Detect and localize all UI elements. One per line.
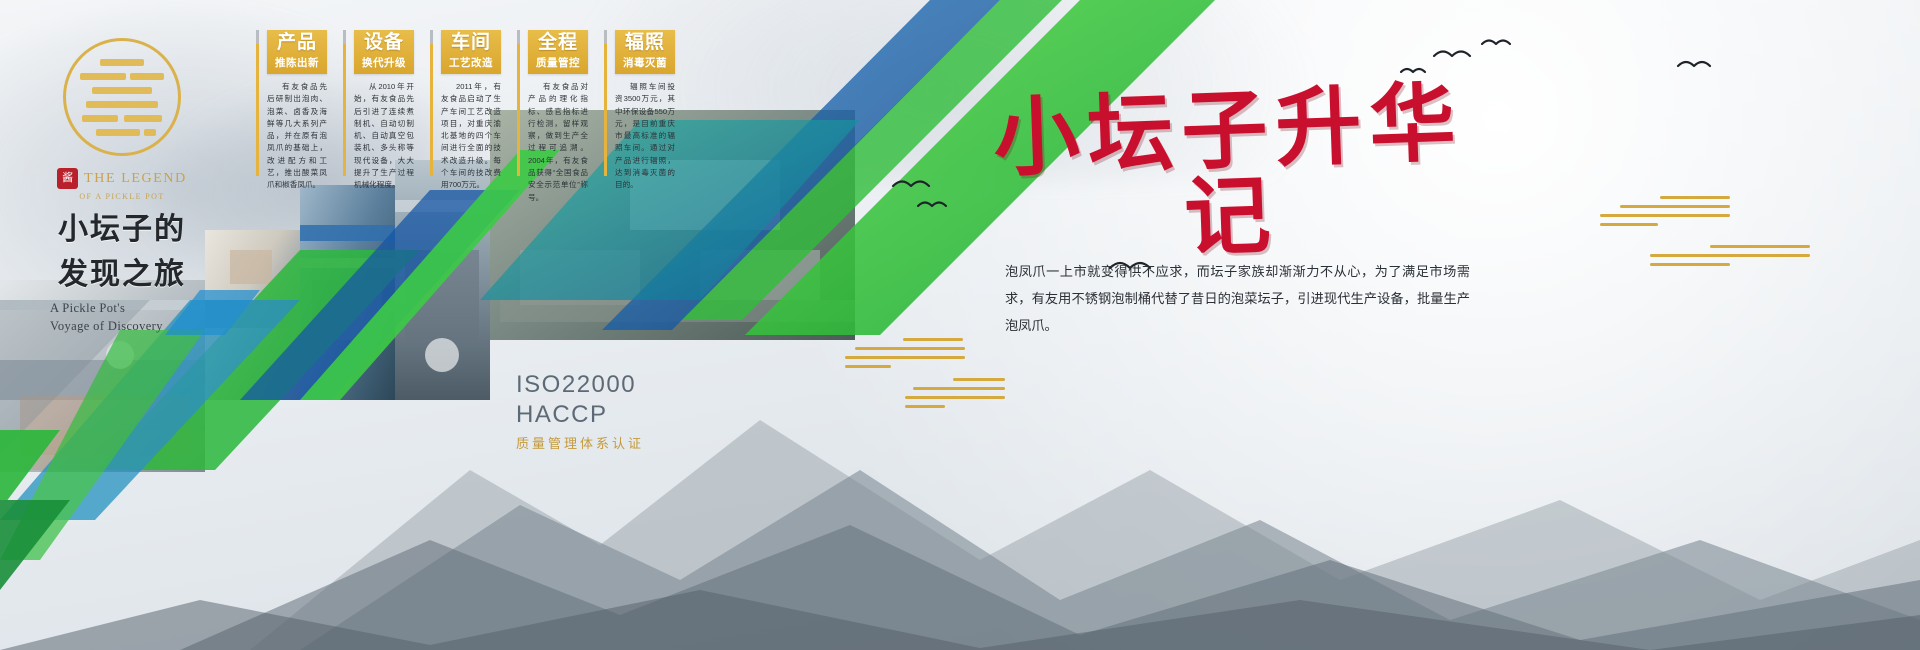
column-subtitle: 推陈出新 <box>271 55 323 70</box>
column-title: 车间 <box>445 33 497 53</box>
column-title: 产品 <box>271 33 323 53</box>
column-body: 辐照车间投资3500万元，其中环保设备550万元，是目前重庆市最高标准的辐照车间… <box>615 81 675 192</box>
info-column-product: 产品 推陈出新 有友食品先后研制出泡肉、泡菜、卤香及海鲜等几大系列产品，并在原有… <box>256 30 327 204</box>
photo-tile-pipes-equipment <box>300 185 395 400</box>
column-title: 全程 <box>532 33 584 53</box>
headline-paragraph: 泡凤爪一上市就变得供不应求，而坛子家族却渐渐力不从心，为了满足市场需求，有友用不… <box>1005 258 1470 339</box>
column-header: 车间 工艺改造 <box>441 30 501 74</box>
column-body: 2011年，有友食品启动了生产车间工艺改造项目，对重庆渝北基地的四个车间进行全面… <box>441 81 501 192</box>
cert-line-iso: ISO22000 <box>516 370 644 400</box>
ribbon-green-left-edge <box>0 430 70 590</box>
legend-en-text: THE LEGEND <box>84 171 187 187</box>
column-subtitle: 工艺改造 <box>445 55 497 70</box>
info-column-workshop: 车间 工艺改造 2011年，有友食品启动了生产车间工艺改造项目，对重庆渝北基地的… <box>430 30 501 204</box>
headline-title: 小坛子升华记 <box>957 79 1503 270</box>
brand-block: 酱 THE LEGEND OF A PICKLE POT 小坛子的 发现之旅 A… <box>22 38 222 335</box>
gold-swirl-right-lower-icon <box>1650 245 1810 272</box>
column-title: 辐照 <box>619 33 671 53</box>
column-header: 全程 质量管控 <box>528 30 588 74</box>
gold-swirl-center-lower-icon <box>905 378 1005 414</box>
column-subtitle: 消毒灭菌 <box>619 55 671 70</box>
certification-block: ISO22000 HACCP 质量管理体系认证 <box>516 370 644 452</box>
gold-swirl-right-icon <box>1600 196 1730 232</box>
gold-swirl-center-icon <box>845 338 965 374</box>
column-header: 产品 推陈出新 <box>267 30 327 74</box>
brand-name-line2: 发现之旅 <box>22 258 222 291</box>
column-subtitle: 质量管控 <box>532 55 584 70</box>
column-body: 从2010年开始，有友食品先后引进了连续煮制机、自动切制机、自动真空包装机、多头… <box>354 81 414 192</box>
column-rail <box>604 30 607 176</box>
info-column-equipment: 设备 换代升级 从2010年开始，有友食品先后引进了连续煮制机、自动切制机、自动… <box>343 30 414 204</box>
column-header: 辐照 消毒灭菌 <box>615 30 675 74</box>
column-rail <box>343 30 346 176</box>
column-subtitle: 换代升级 <box>358 55 410 70</box>
column-header: 设备 换代升级 <box>354 30 414 74</box>
brand-name-line1: 小坛子的 <box>22 213 222 246</box>
legend-lockup: 酱 THE LEGEND <box>22 168 222 189</box>
brand-en-line2: Voyage of Discovery <box>22 317 222 335</box>
column-body: 有友食品对产品的理化指标、感官指标进行检测，留样观察，做到生产全过程可追溯。20… <box>528 81 588 204</box>
info-columns: 产品 推陈出新 有友食品先后研制出泡肉、泡菜、卤香及海鲜等几大系列产品，并在原有… <box>256 30 675 204</box>
cert-line-cn: 质量管理体系认证 <box>516 433 644 452</box>
cert-line-haccp: HACCP <box>516 400 644 430</box>
poster-canvas: 酱 THE LEGEND OF A PICKLE POT 小坛子的 发现之旅 A… <box>0 0 1920 650</box>
info-column-quality: 全程 质量管控 有友食品对产品的理化指标、感官指标进行检测，留样观察，做到生产全… <box>517 30 588 204</box>
seal-circle-icon <box>63 38 181 156</box>
brand-stamp-icon: 酱 <box>57 168 78 189</box>
column-rail <box>430 30 433 176</box>
legend-sub-text: OF A PICKLE POT <box>22 192 222 201</box>
ribbon-blue-mid <box>240 190 520 400</box>
column-body: 有友食品先后研制出泡肉、泡菜、卤香及海鲜等几大系列产品，并在原有泡凤爪的基础上，… <box>267 81 327 192</box>
brand-en-line1: A Pickle Pot's <box>22 299 222 317</box>
column-rail <box>256 30 259 176</box>
column-rail <box>517 30 520 176</box>
info-column-irradiation: 辐照 消毒灭菌 辐照车间投资3500万元，其中环保设备550万元，是目前重庆市最… <box>604 30 675 204</box>
column-title: 设备 <box>358 33 410 53</box>
ink-mountains <box>0 420 1920 650</box>
